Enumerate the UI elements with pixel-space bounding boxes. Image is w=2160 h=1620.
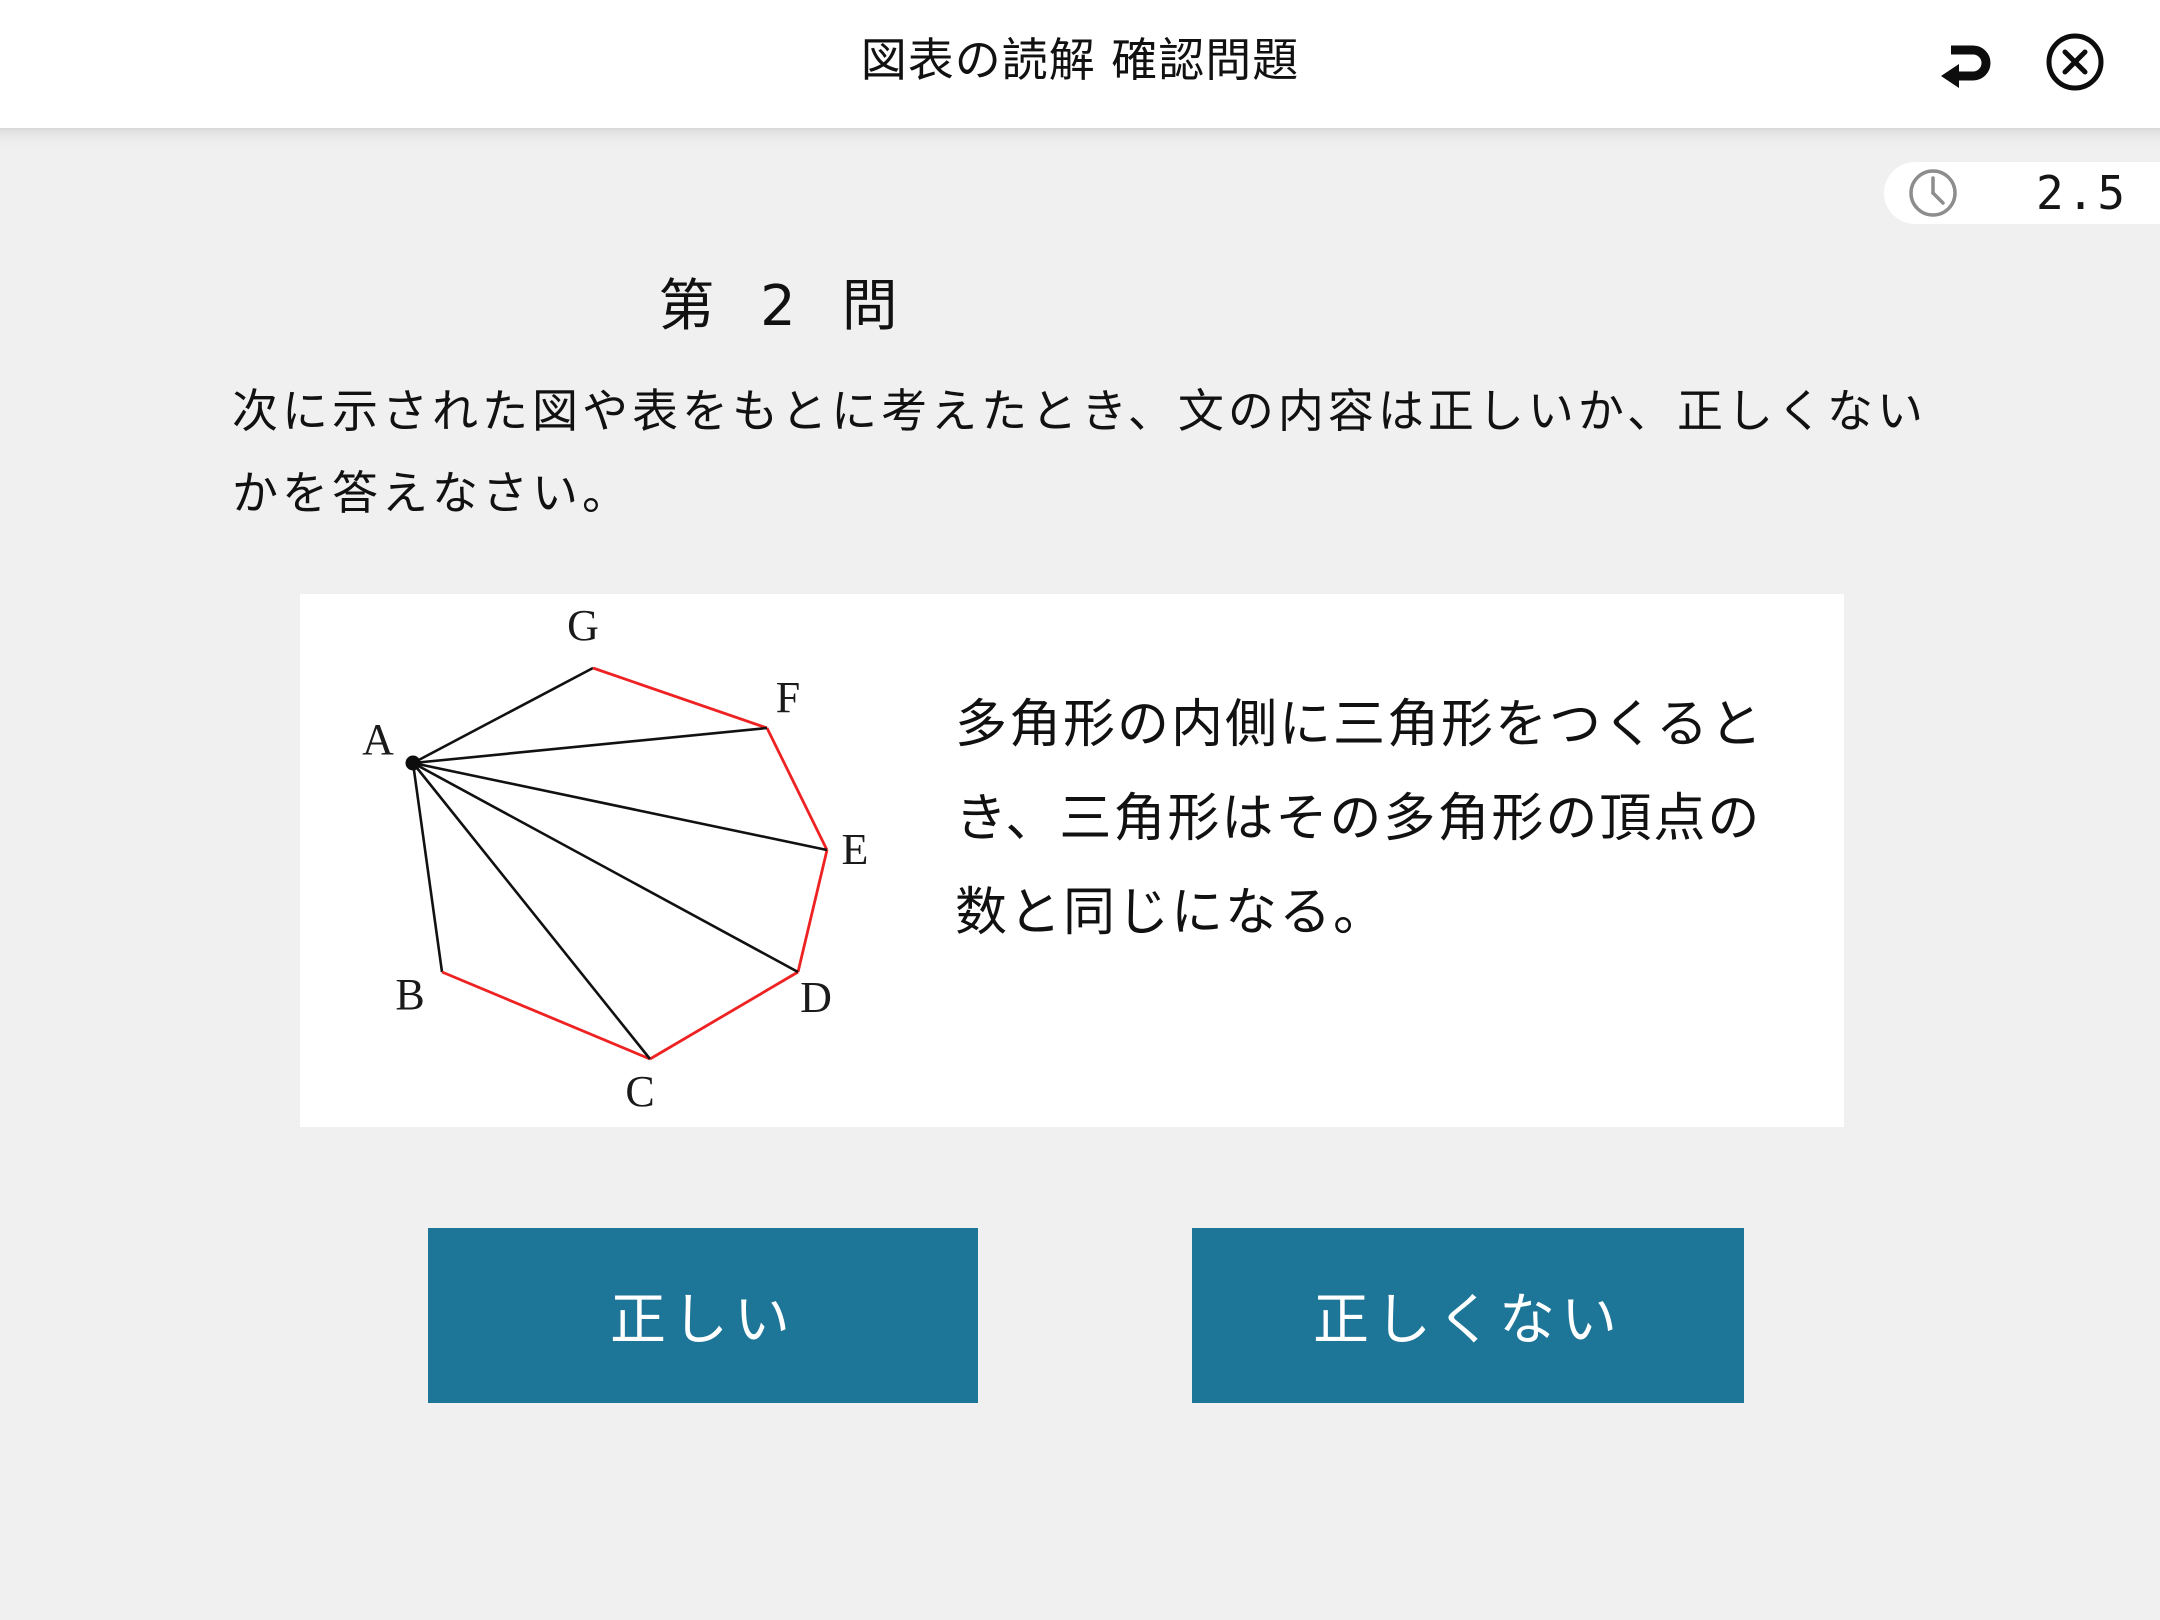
close-circle-icon bbox=[2044, 31, 2106, 93]
polygon-diagram: A B C D E F G bbox=[300, 594, 960, 1127]
polygon-diagonals bbox=[413, 728, 827, 1059]
header-divider bbox=[0, 128, 2160, 150]
vertex-label-f: F bbox=[776, 673, 800, 722]
figure-card: A B C D E F G 多角形の内側に三角形をつくるとき、三角形はその多角形… bbox=[300, 594, 1844, 1127]
answer-options: 正しい 正しくない bbox=[0, 1228, 2160, 1403]
question-number: 第 2 問 bbox=[0, 272, 1570, 342]
vertex-label-e: E bbox=[842, 825, 869, 874]
polygon-side-black bbox=[413, 668, 593, 972]
vertex-label-c: C bbox=[625, 1067, 654, 1116]
undo-button[interactable] bbox=[1934, 29, 2000, 95]
vertex-label-d: D bbox=[800, 973, 832, 1022]
question-instruction: 次に示された図や表をもとに考えたとき、文の内容は正しいか、正しくないかを答えなさ… bbox=[232, 370, 1932, 534]
timer-value: 2.5 bbox=[2036, 166, 2128, 220]
figure-statement: 多角形の内側に三角形をつくるとき、三角形はその多角形の頂点の数と同じになる。 bbox=[955, 678, 1815, 960]
answer-incorrect-button[interactable]: 正しくない bbox=[1192, 1228, 1744, 1403]
vertex-label-g: G bbox=[567, 601, 599, 650]
clock-icon bbox=[1906, 166, 1960, 220]
timer-badge: 2.5 bbox=[1884, 162, 2160, 224]
page-title: 図表の読解 確認問題 bbox=[0, 26, 2160, 94]
header-actions bbox=[1934, 26, 2108, 98]
close-button[interactable] bbox=[2042, 29, 2108, 95]
undo-arrow-icon bbox=[1937, 34, 1997, 90]
app-header: 図表の読解 確認問題 bbox=[0, 0, 2160, 128]
vertex-marker-a bbox=[406, 756, 421, 771]
vertex-label-b: B bbox=[395, 970, 424, 1019]
answer-correct-button[interactable]: 正しい bbox=[428, 1228, 978, 1403]
polygon-side-red bbox=[442, 668, 827, 1059]
vertex-label-a: A bbox=[362, 715, 394, 764]
